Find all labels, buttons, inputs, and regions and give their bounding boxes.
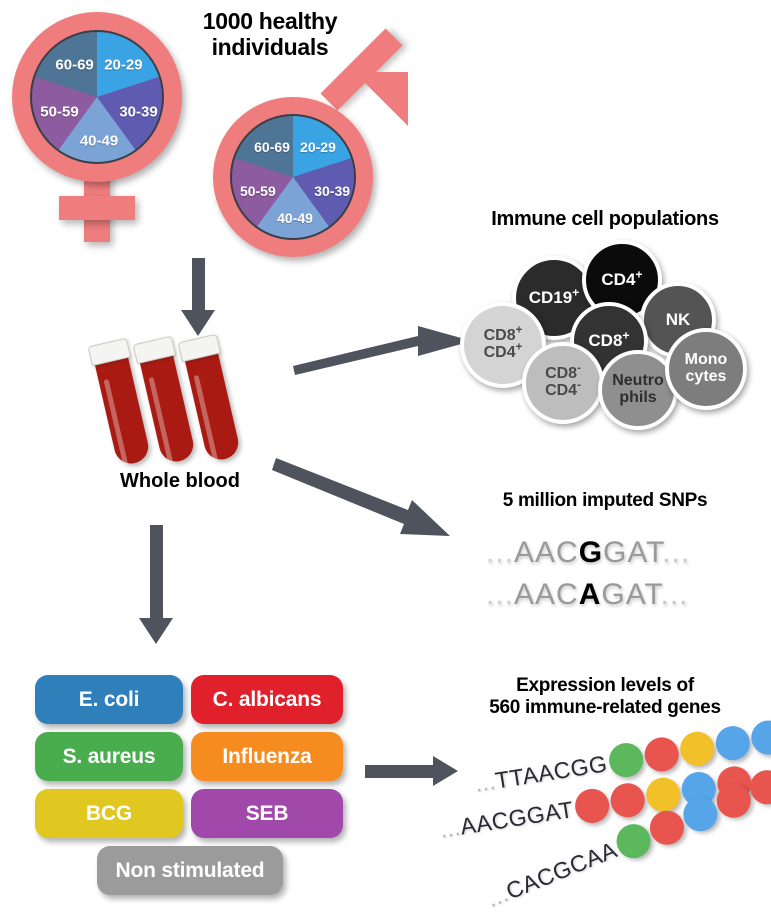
immune-cell-label: CD8+CD4+: [484, 328, 523, 362]
immune-cell-label: Neutrophils: [612, 373, 664, 407]
expression-bead: [606, 741, 645, 780]
stimulus-label: BCG: [86, 802, 132, 826]
pie-slice-label: 30-39: [314, 183, 350, 199]
female-symbol-stem-horizontal: [59, 196, 135, 220]
pie-slice-label: 20-29: [104, 57, 142, 74]
stimulus-button-s-aureus[interactable]: S. aureus: [35, 732, 183, 781]
pie-slice-label: 40-49: [277, 210, 313, 226]
immune-cell-label: NK: [666, 311, 691, 329]
stimulus-label: SEB: [246, 802, 289, 826]
immune-cell-cluster: CD19+CD4+NKCD8+CD4+CD8+CD8-CD4-Neutrophi…: [460, 240, 765, 425]
snp-suffix-dots: ...: [662, 536, 690, 569]
stimulus-button-non-stimulated[interactable]: Non stimulated: [97, 846, 283, 895]
snp-suffix-dots: ...: [661, 578, 689, 611]
arrow-blood-to-immune-cells: [290, 318, 475, 388]
section-title-expression: Expression levels of 560 immune-related …: [440, 675, 770, 719]
stimulus-label: S. aureus: [63, 745, 156, 769]
expression-strand-sequence: ...CACGCAA: [483, 836, 621, 913]
female-age-distribution-pie: 20-2930-3940-4950-5960-69: [30, 30, 164, 164]
arrow-shaft: [365, 765, 435, 778]
stimulus-button-seb[interactable]: SEB: [191, 789, 343, 838]
male-age-distribution-pie: 20-2930-3940-4950-5960-69: [230, 114, 356, 240]
snp-variant-base: G: [579, 536, 603, 569]
immune-cell-label: CD19+: [529, 289, 580, 307]
pie-slice-label: 50-59: [40, 103, 78, 120]
snp-suffix-bases: GAT: [601, 578, 660, 611]
expression-bead: [642, 735, 681, 774]
pie-slice-label: 50-59: [240, 183, 276, 199]
female-cohort-symbol: 20-2930-3940-4950-5960-69: [12, 12, 192, 247]
stimulus-button-influenza[interactable]: Influenza: [191, 732, 343, 781]
expression-strands-panel: ...TTAACGG...AACGGAT...CACGCAA: [440, 735, 771, 910]
expression-bead: [608, 781, 647, 820]
immune-cell-label: CD8-CD4-: [545, 366, 581, 400]
stimulus-button-c-albicans[interactable]: C. albicans: [191, 675, 343, 724]
arrow-head: [181, 310, 215, 336]
immune-cell-label: CD8+: [588, 332, 629, 350]
immune-cell-label: Monocytes: [685, 352, 728, 386]
immune-cell-label: CD4+: [601, 271, 642, 289]
pie-slice-label: 20-29: [300, 139, 336, 155]
figure-canvas: 1000 healthy individuals 20-2930-3940-49…: [0, 0, 771, 922]
blood-tube-highlight: [104, 379, 129, 466]
snp-suffix-bases: GAT: [603, 536, 662, 569]
immune-cell-cd8-cd4: CD8-CD4-: [522, 342, 604, 424]
snp-variant-base: A: [579, 578, 602, 611]
section-title-immune-cells: Immune cell populations: [445, 208, 765, 231]
expression-strand-sequence: ...AACGGAT: [438, 796, 575, 844]
snp-allele-row-2: ...AACAGAT...: [486, 578, 689, 612]
stimuli-panel: E. coliC. albicansS. aureusInfluenzaBCGS…: [35, 675, 345, 890]
male-symbol-arrow-head: [354, 72, 408, 126]
expression-title-line-2: 560 immune-related genes: [440, 697, 770, 719]
immune-cell-monocytes: Monocytes: [665, 328, 747, 410]
section-title-snps: 5 million imputed SNPs: [445, 490, 765, 512]
pie-slice-label: 60-69: [254, 139, 290, 155]
stimulus-label: C. albicans: [213, 688, 322, 712]
expression-bead: [677, 729, 716, 768]
arrow-shaft: [192, 258, 205, 313]
expression-bead: [573, 786, 612, 825]
expression-bead: [713, 724, 752, 763]
snp-prefix-bases: AAC: [514, 578, 579, 611]
expression-title-line-1: Expression levels of: [440, 675, 770, 697]
stimulus-label: E. coli: [79, 688, 139, 712]
stimulus-button-e-coli[interactable]: E. coli: [35, 675, 183, 724]
arrow-shaft: [150, 525, 163, 621]
blood-tube-highlight: [149, 377, 174, 464]
male-cohort-symbol: 20-2930-3940-4950-5960-69: [213, 72, 428, 247]
snp-prefix-dots: ...: [486, 536, 514, 569]
snp-prefix-bases: AAC: [514, 536, 579, 569]
pie-slice-label: 30-39: [119, 103, 157, 120]
arrow-head: [139, 618, 173, 644]
snp-prefix-dots: ...: [486, 578, 514, 611]
stimulus-button-bcg[interactable]: BCG: [35, 789, 183, 838]
snp-allele-row-1: ...AACGGAT...: [486, 536, 690, 570]
expression-bead: [749, 718, 771, 757]
stimulus-label: Influenza: [222, 745, 311, 769]
pie-slice-label: 40-49: [80, 132, 118, 149]
label-whole-blood: Whole blood: [60, 470, 300, 493]
pie-slice-label: 60-69: [55, 57, 93, 74]
stimulus-label: Non stimulated: [116, 859, 265, 883]
blood-tube-highlight: [194, 375, 219, 462]
arrow-blood-to-snps: [272, 448, 462, 548]
